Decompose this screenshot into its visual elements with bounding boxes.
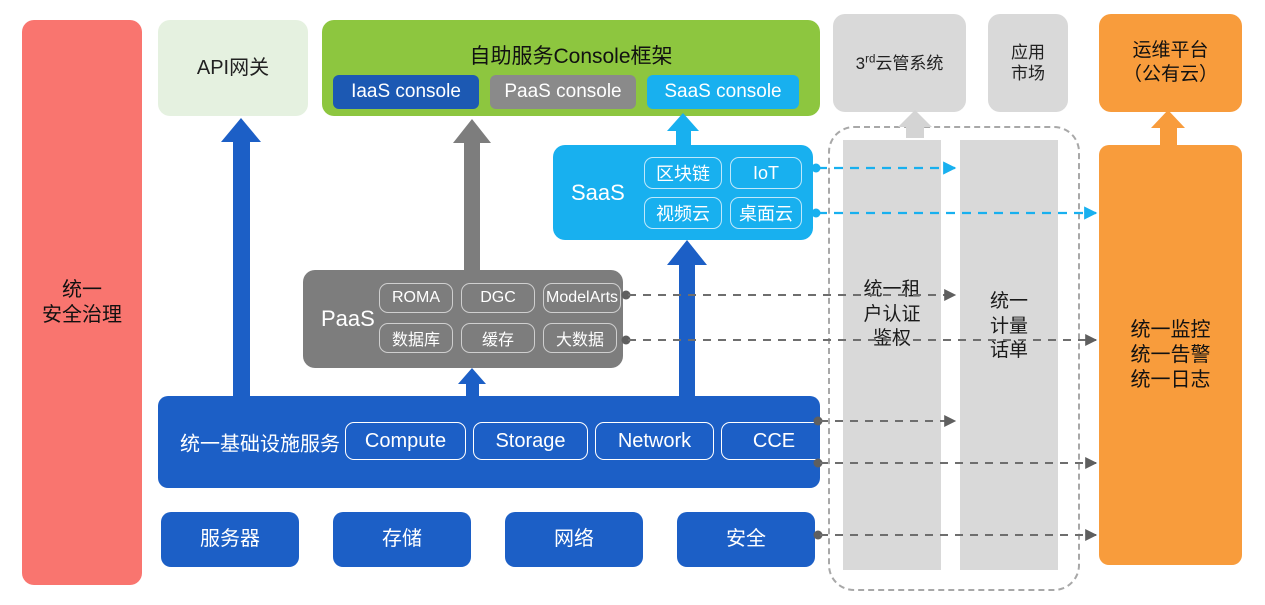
iaas-console-chip[interactable]: IaaS console (333, 75, 479, 109)
app-market-block: 应用 市场 (988, 14, 1068, 112)
paas-layer-block: PaaS ROMA DGC ModelArts 数据库 缓存 大数据 (303, 270, 623, 368)
arrow-paas-to-console (453, 119, 491, 270)
unified-infrastructure-label: 统一基础设施服务 (180, 428, 340, 457)
third-party-cloud-management-label: 3rd云管系统 (856, 52, 944, 74)
arrow-ops-column-to-ops-platform (1151, 110, 1185, 145)
saas-item-blockchain-label: 区块链 (656, 160, 710, 186)
saas-console-chip[interactable]: SaaS console (647, 75, 799, 109)
saas-console-label: SaaS console (664, 81, 781, 103)
saas-item-iot[interactable]: IoT (730, 157, 802, 189)
paas-item-database-label: 数据库 (392, 326, 440, 350)
resource-box-network-label: 网络 (554, 527, 594, 552)
resource-box-storage: 存储 (333, 512, 471, 567)
tenant-auth-label: 统一租 户认证 鉴权 (843, 278, 941, 352)
paas-item-modelarts[interactable]: ModelArts (543, 283, 621, 313)
arrow-saas-to-saas-console (667, 113, 699, 146)
metering-label: 统一 计量 话单 (960, 290, 1058, 364)
unified-security-governance-label: 统一 安全治理 (42, 278, 122, 328)
saas-item-iot-label: IoT (753, 163, 779, 184)
resource-box-server-label: 服务器 (200, 527, 260, 552)
saas-item-video-cloud-label: 视频云 (656, 200, 710, 226)
infra-item-network[interactable]: Network (595, 422, 714, 460)
saas-layer-block: SaaS 区块链 IoT 视频云 桌面云 (553, 145, 813, 240)
api-gateway-block: API网关 (158, 20, 308, 116)
saas-item-blockchain[interactable]: 区块链 (644, 157, 722, 189)
paas-layer-label: PaaS (321, 306, 375, 332)
paas-console-chip[interactable]: PaaS console (490, 75, 636, 109)
paas-item-roma[interactable]: ROMA (379, 283, 453, 313)
diagram-canvas: 统一 安全治理 API网关 自助服务Console框架 IaaS console… (0, 0, 1265, 605)
resource-box-security-label: 安全 (726, 527, 766, 552)
infra-item-cce-label: CCE (753, 430, 795, 453)
saas-layer-label: SaaS (571, 180, 625, 206)
paas-item-database[interactable]: 数据库 (379, 323, 453, 353)
ops-capabilities-column: 统一监控 统一告警 统一日志 (1099, 145, 1242, 565)
unified-infrastructure-bar: 统一基础设施服务 Compute Storage Network CCE (158, 396, 820, 488)
resource-box-server: 服务器 (161, 512, 299, 567)
arrow-infra-to-paas (458, 368, 486, 396)
paas-item-cache-label: 缓存 (482, 326, 514, 350)
resource-box-network: 网络 (505, 512, 643, 567)
saas-item-desktop-cloud[interactable]: 桌面云 (730, 197, 802, 229)
infra-item-compute-label: Compute (365, 430, 446, 453)
arrow-infra-to-api-gateway (221, 118, 261, 396)
paas-console-label: PaaS console (504, 81, 621, 103)
app-market-label: 应用 市场 (1011, 42, 1045, 85)
resource-box-storage-label: 存储 (382, 527, 422, 552)
infra-item-storage[interactable]: Storage (473, 422, 588, 460)
infra-item-compute[interactable]: Compute (345, 422, 466, 460)
saas-item-video-cloud[interactable]: 视频云 (644, 197, 722, 229)
ops-platform-label: 运维平台 （公有云） (1123, 39, 1218, 87)
tenant-auth-strip (843, 140, 941, 570)
third-party-text: 3rd云管系统 (856, 54, 944, 73)
third-party-cloud-management-block: 3rd云管系统 (833, 14, 966, 112)
saas-item-desktop-cloud-label: 桌面云 (739, 200, 793, 226)
paas-item-bigdata[interactable]: 大数据 (543, 323, 617, 353)
paas-item-cache[interactable]: 缓存 (461, 323, 535, 353)
self-service-console-frame: 自助服务Console框架 IaaS console PaaS console … (322, 20, 820, 116)
paas-item-roma-label: ROMA (392, 289, 440, 307)
resource-box-security: 安全 (677, 512, 815, 567)
infra-item-network-label: Network (618, 430, 691, 453)
unified-security-governance-block: 统一 安全治理 (22, 20, 142, 585)
paas-item-dgc[interactable]: DGC (461, 283, 535, 313)
ops-capabilities-label: 统一监控 统一告警 统一日志 (1131, 318, 1211, 393)
arrow-infra-to-saas (667, 240, 707, 396)
paas-item-bigdata-label: 大数据 (556, 326, 604, 350)
api-gateway-label: API网关 (197, 56, 269, 81)
ops-platform-block: 运维平台 （公有云） (1099, 14, 1242, 112)
paas-item-dgc-label: DGC (480, 289, 516, 307)
paas-item-modelarts-label: ModelArts (546, 289, 618, 307)
self-service-console-title: 自助服务Console框架 (322, 40, 820, 70)
iaas-console-label: IaaS console (351, 81, 461, 103)
infra-item-storage-label: Storage (495, 430, 565, 453)
infra-item-cce[interactable]: CCE (721, 422, 827, 460)
